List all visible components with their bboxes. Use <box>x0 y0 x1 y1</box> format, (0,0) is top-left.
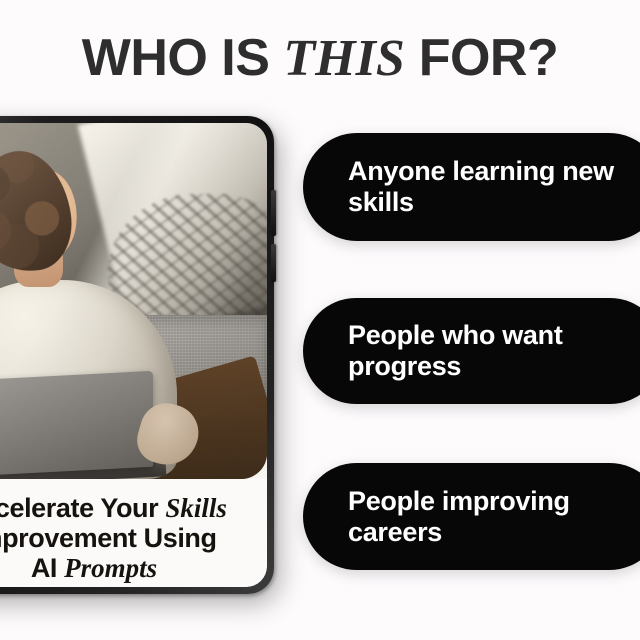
audience-pill-1[interactable]: Anyone learning new skills <box>303 133 640 241</box>
caption-line-3-a: AI <box>31 553 64 583</box>
audience-pill-2-label: People who want progress <box>348 320 637 382</box>
page-title-part-2: FOR? <box>405 29 558 87</box>
caption-line-2: Improvement Using <box>0 523 217 553</box>
tablet-caption-card: Accelerate Your Skills Improvement Using… <box>0 479 267 587</box>
caption-line-1-emphasis: Skills <box>165 493 227 523</box>
audience-pill-1-label: Anyone learning new skills <box>348 156 637 218</box>
tablet-screen: Accelerate Your Skills Improvement Using… <box>0 123 267 587</box>
audience-pill-3-label: People improving careers <box>348 486 637 548</box>
page-title-emphasis: THIS <box>283 30 404 87</box>
photo-laptop-lid <box>0 371 153 477</box>
tablet-bezel: Accelerate Your Skills Improvement Using… <box>0 123 267 587</box>
tablet-caption-text: Accelerate Your Skills Improvement Using… <box>0 493 227 584</box>
slide-canvas: WHO IS THIS FOR? <box>0 0 640 640</box>
caption-line-1-a: Accelerate Your <box>0 493 165 523</box>
audience-pill-3[interactable]: People improving careers <box>303 463 640 570</box>
page-title-part-1: WHO IS <box>82 29 284 87</box>
audience-pill-2[interactable]: People who want progress <box>303 298 640 404</box>
caption-line-3-emphasis: Prompts <box>64 553 157 583</box>
volume-down-button[interactable] <box>271 244 276 282</box>
lifestyle-photo <box>0 123 267 479</box>
volume-up-button[interactable] <box>271 190 276 236</box>
tablet-mockup: Accelerate Your Skills Improvement Using… <box>0 116 274 594</box>
page-title: WHO IS THIS FOR? <box>0 30 640 87</box>
